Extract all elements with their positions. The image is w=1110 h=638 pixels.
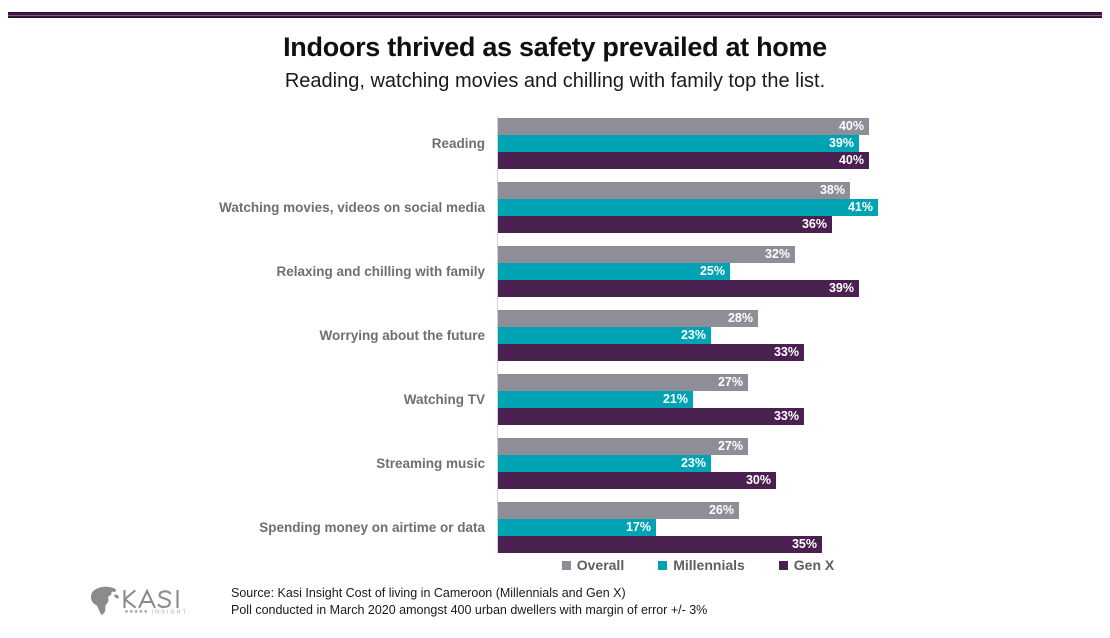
bar-value-label: 41% (848, 199, 873, 216)
bar-overall: 40% (498, 118, 869, 135)
bar-value-label: 30% (746, 472, 771, 489)
kasi-insight-logo: INSIGHT (88, 584, 208, 618)
bar-value-label: 27% (718, 374, 743, 391)
bar-value-label: 33% (774, 408, 799, 425)
bar-group-bars: 27%23%30% (498, 438, 1098, 489)
top-divider-rule (8, 12, 1102, 18)
bar-group-bars: 38%41%36% (498, 182, 1098, 233)
bar-gen-x: 30% (498, 472, 776, 489)
bar-value-label: 28% (728, 310, 753, 327)
bar-millennials: 23% (498, 455, 711, 472)
bar-overall: 28% (498, 310, 758, 327)
bar-group: Watching TV27%21%33% (0, 374, 1110, 425)
bar-millennials: 21% (498, 391, 693, 408)
bar-value-label: 26% (709, 502, 734, 519)
bar-group: Spending money on airtime or data26%17%3… (0, 502, 1110, 553)
legend-label: Overall (577, 557, 624, 573)
bar-gen-x: 35% (498, 536, 822, 553)
bar-millennials: 17% (498, 519, 656, 536)
legend-label: Gen X (794, 557, 834, 573)
bar-value-label: 33% (774, 344, 799, 361)
bar-gen-x: 33% (498, 408, 804, 425)
bar-overall: 26% (498, 502, 739, 519)
category-label: Reading (0, 118, 485, 169)
bar-overall: 27% (498, 438, 748, 455)
bar-group: Worrying about the future28%23%33% (0, 310, 1110, 361)
legend-swatch-icon (779, 561, 788, 570)
bar-value-label: 23% (681, 455, 706, 472)
bar-millennials: 41% (498, 199, 878, 216)
chart-header: Indoors thrived as safety prevailed at h… (0, 30, 1110, 96)
bar-value-label: 40% (839, 118, 864, 135)
africa-map-icon (91, 587, 119, 615)
category-label: Relaxing and chilling with family (0, 246, 485, 297)
source-line-2: Poll conducted in March 2020 amongst 400… (231, 602, 707, 619)
bar-value-label: 32% (765, 246, 790, 263)
bar-group-bars: 26%17%35% (498, 502, 1098, 553)
bar-value-label: 35% (792, 536, 817, 553)
bar-gen-x: 36% (498, 216, 832, 233)
bar-value-label: 38% (820, 182, 845, 199)
category-label: Worrying about the future (0, 310, 485, 361)
bar-group: Watching movies, videos on social media3… (0, 182, 1110, 233)
bar-value-label: 25% (700, 263, 725, 280)
category-label: Spending money on airtime or data (0, 502, 485, 553)
kasi-wordmark (125, 591, 178, 607)
legend-label: Millennials (673, 557, 745, 573)
bar-value-label: 40% (839, 152, 864, 169)
bar-millennials: 25% (498, 263, 730, 280)
bar-group-bars: 40%39%40% (498, 118, 1098, 169)
bar-millennials: 23% (498, 327, 711, 344)
kasi-tagline: INSIGHT (125, 610, 188, 616)
bar-value-label: 39% (829, 135, 854, 152)
chart-plot-area: Reading40%39%40%Watching movies, videos … (0, 116, 1110, 554)
bar-group-bars: 32%25%39% (498, 246, 1098, 297)
source-note: Source: Kasi Insight Cost of living in C… (231, 585, 707, 619)
bar-group-bars: 28%23%33% (498, 310, 1098, 361)
bar-overall: 32% (498, 246, 795, 263)
bar-gen-x: 39% (498, 280, 859, 297)
chart-legend: OverallMillennialsGen X (498, 554, 898, 576)
bar-value-label: 21% (663, 391, 688, 408)
bar-value-label: 27% (718, 438, 743, 455)
svg-text:INSIGHT: INSIGHT (152, 610, 189, 616)
bar-gen-x: 40% (498, 152, 869, 169)
legend-swatch-icon (658, 561, 667, 570)
chart-subtitle: Reading, watching movies and chilling wi… (0, 66, 1110, 96)
bar-value-label: 23% (681, 327, 706, 344)
legend-item[interactable]: Gen X (779, 557, 834, 573)
bar-group: Relaxing and chilling with family32%25%3… (0, 246, 1110, 297)
bar-group: Streaming music27%23%30% (0, 438, 1110, 489)
bar-group: Reading40%39%40% (0, 118, 1110, 169)
bar-overall: 27% (498, 374, 748, 391)
bar-gen-x: 33% (498, 344, 804, 361)
bar-value-label: 36% (802, 216, 827, 233)
category-label: Streaming music (0, 438, 485, 489)
category-label: Watching TV (0, 374, 485, 425)
legend-item[interactable]: Millennials (658, 557, 745, 573)
top-divider-inner-line (8, 15, 1102, 16)
chart-title: Indoors thrived as safety prevailed at h… (0, 30, 1110, 64)
bar-overall: 38% (498, 182, 850, 199)
chart-footer: INSIGHT Source: Kasi Insight Cost of liv… (0, 578, 1110, 638)
bar-group-bars: 27%21%33% (498, 374, 1098, 425)
source-line-1: Source: Kasi Insight Cost of living in C… (231, 585, 707, 602)
bar-value-label: 17% (626, 519, 651, 536)
legend-item[interactable]: Overall (562, 557, 624, 573)
legend-swatch-icon (562, 561, 571, 570)
bar-millennials: 39% (498, 135, 859, 152)
bar-value-label: 39% (829, 280, 854, 297)
category-label: Watching movies, videos on social media (0, 182, 485, 233)
